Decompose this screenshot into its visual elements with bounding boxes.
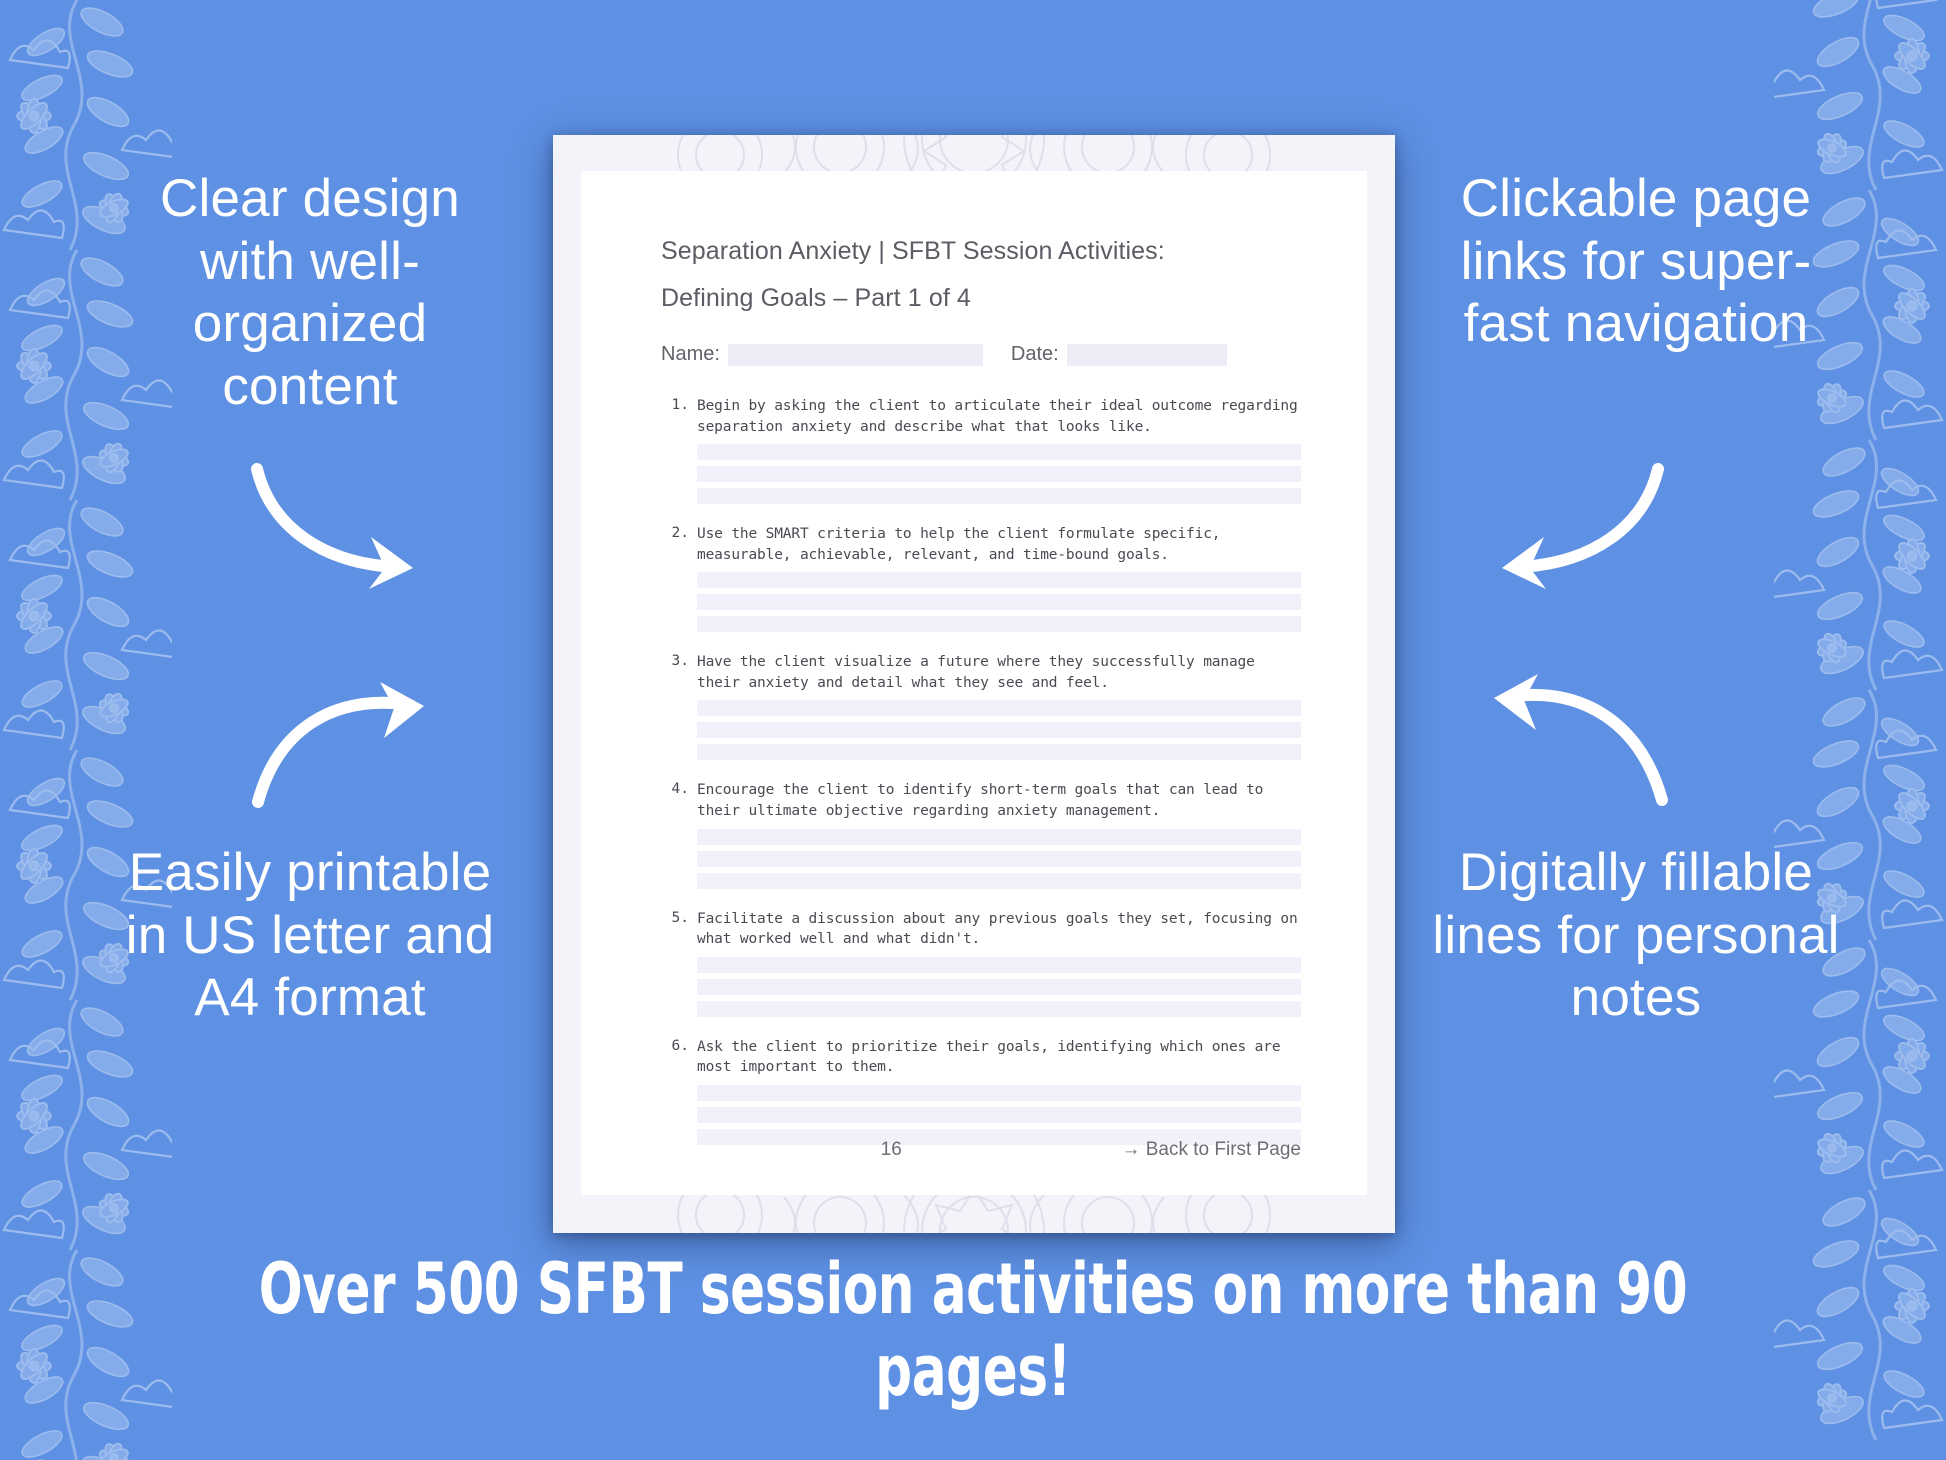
answer-line[interactable]	[697, 851, 1301, 867]
answer-lines[interactable]	[697, 444, 1301, 504]
answer-lines[interactable]	[697, 1085, 1301, 1145]
task-text: Have the client visualize a future where…	[697, 652, 1301, 693]
curved-arrow-right-down-icon	[245, 455, 435, 595]
task-number: 3.	[661, 652, 697, 766]
answer-line[interactable]	[697, 957, 1301, 973]
answer-line[interactable]	[697, 488, 1301, 504]
promo-graphic: Clear design with well-organized content…	[0, 0, 1946, 1460]
curved-arrow-left-down-icon	[1480, 455, 1670, 595]
worksheet-title: Separation Anxiety | SFBT Session Activi…	[661, 233, 1301, 271]
answer-line[interactable]	[697, 594, 1301, 610]
answer-line[interactable]	[697, 829, 1301, 845]
task-number: 5.	[661, 909, 697, 1023]
task-number: 1.	[661, 396, 697, 510]
bottom-banner-text: Over 500 SFBT session activities on more…	[175, 1248, 1771, 1412]
task-text: Ask the client to prioritize their goals…	[697, 1037, 1301, 1078]
answer-line[interactable]	[697, 744, 1301, 760]
callout-clear-design: Clear design with well-organized content	[110, 168, 510, 418]
name-input[interactable]	[728, 344, 983, 366]
answer-line[interactable]	[697, 979, 1301, 995]
answer-line[interactable]	[697, 700, 1301, 716]
answer-lines[interactable]	[697, 957, 1301, 1017]
answer-line[interactable]	[697, 466, 1301, 482]
worksheet-footer: 16 → Back to First Page	[661, 1139, 1301, 1161]
task-text: Encourage the client to identify short-t…	[697, 780, 1301, 821]
page-number: 16	[881, 1139, 902, 1161]
task-list: 1. Begin by asking the client to articul…	[661, 396, 1301, 1151]
curved-arrow-up-left-icon	[1478, 672, 1673, 812]
task-text: Use the SMART criteria to help the clien…	[697, 524, 1301, 565]
task-item: 3. Have the client visualize a future wh…	[661, 652, 1301, 766]
answer-line[interactable]	[697, 873, 1301, 889]
answer-line[interactable]	[697, 444, 1301, 460]
name-date-row: Name: Date:	[661, 343, 1301, 366]
task-item: 4. Encourage the client to identify shor…	[661, 780, 1301, 894]
task-text: Begin by asking the client to articulate…	[697, 396, 1301, 437]
name-label: Name:	[661, 343, 720, 366]
back-to-first-page-link[interactable]: → Back to First Page	[1121, 1139, 1301, 1161]
task-item: 2. Use the SMART criteria to help the cl…	[661, 524, 1301, 638]
answer-line[interactable]	[697, 1085, 1301, 1101]
callout-fillable-lines: Digitally fillable lines for personal no…	[1426, 842, 1846, 1030]
task-item: 5. Facilitate a discussion about any pre…	[661, 909, 1301, 1023]
answer-lines[interactable]	[697, 700, 1301, 760]
answer-line[interactable]	[697, 1107, 1301, 1123]
answer-line[interactable]	[697, 1001, 1301, 1017]
document-page-preview[interactable]: Separation Anxiety | SFBT Session Activi…	[553, 135, 1395, 1233]
worksheet-paper: Separation Anxiety | SFBT Session Activi…	[581, 171, 1367, 1195]
date-label: Date:	[1011, 343, 1059, 366]
task-item: 1. Begin by asking the client to articul…	[661, 396, 1301, 510]
callout-clickable-links: Clickable page links for super-fast navi…	[1426, 168, 1846, 356]
task-number: 4.	[661, 780, 697, 894]
callout-easily-printable: Easily printable in US letter and A4 for…	[110, 842, 510, 1030]
answer-lines[interactable]	[697, 572, 1301, 632]
worksheet-subtitle: Defining Goals – Part 1 of 4	[661, 280, 1301, 318]
task-number: 2.	[661, 524, 697, 638]
task-item: 6. Ask the client to prioritize their go…	[661, 1037, 1301, 1151]
answer-line[interactable]	[697, 616, 1301, 632]
task-text: Facilitate a discussion about any previo…	[697, 909, 1301, 950]
task-number: 6.	[661, 1037, 697, 1151]
curved-arrow-up-right-icon	[248, 682, 438, 812]
date-input[interactable]	[1067, 344, 1227, 366]
answer-line[interactable]	[697, 722, 1301, 738]
answer-line[interactable]	[697, 572, 1301, 588]
answer-lines[interactable]	[697, 829, 1301, 889]
